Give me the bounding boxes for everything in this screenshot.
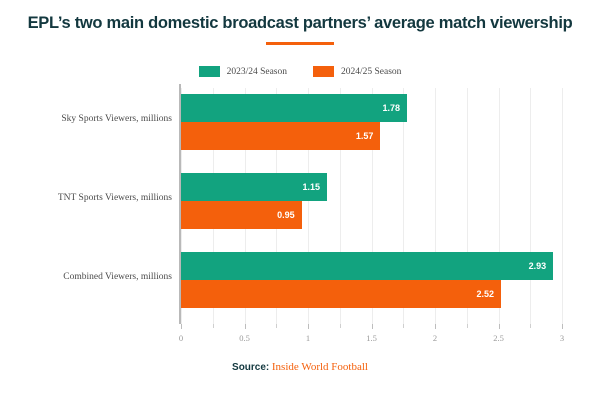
legend-label-season-2024-25: 2024/25 Season: [341, 67, 401, 77]
source-name[interactable]: Inside World Football: [272, 361, 368, 373]
bar-row: 2.52: [181, 280, 562, 308]
bar-row: 1.15: [181, 173, 562, 201]
bar-season-2023-24[interactable]: 1.78: [181, 94, 407, 122]
legend-swatch-orange: [313, 66, 334, 77]
bar-season-2023-24[interactable]: 1.15: [181, 173, 327, 201]
axis-tick: [276, 324, 277, 328]
legend-item-season-2024-25[interactable]: 2024/25 Season: [313, 66, 401, 77]
bar-value-label: 2.93: [529, 261, 547, 271]
bar-row: 1.78: [181, 94, 562, 122]
bar-group: 1.781.57: [181, 94, 562, 150]
axis-tick: [403, 324, 404, 328]
gridline: [562, 88, 563, 324]
bar-row: 0.95: [181, 201, 562, 229]
axis-tick: [499, 324, 500, 329]
source-line: Source: Inside World Football: [0, 361, 600, 373]
bar-season-2024-25[interactable]: 0.95: [181, 201, 302, 229]
legend-label-season-2023-24: 2023/24 Season: [227, 67, 287, 77]
axis-tick: [340, 324, 341, 328]
bar-group: 2.932.52: [181, 252, 562, 308]
axis-tick-label: 3: [560, 333, 564, 343]
bar-value-label: 1.78: [383, 103, 401, 113]
category-label-tnt-sports: TNT Sports Viewers, millions: [2, 193, 172, 203]
axis-tick: [562, 324, 563, 329]
bar-season-2023-24[interactable]: 2.93: [181, 252, 553, 280]
bar-group: 1.150.95: [181, 173, 562, 229]
axis-tick: [530, 324, 531, 328]
source-label: Source:: [232, 362, 269, 373]
axis-tick-label: 0: [179, 333, 183, 343]
bar-season-2024-25[interactable]: 2.52: [181, 280, 501, 308]
bar-value-label: 0.95: [277, 210, 295, 220]
bar-value-label: 2.52: [477, 289, 495, 299]
axis-tick: [372, 324, 373, 329]
axis-tick-label: 1.5: [366, 333, 377, 343]
bar-season-2024-25[interactable]: 1.57: [181, 122, 380, 150]
chart-page: EPL’s two main domestic broadcast partne…: [0, 0, 600, 400]
bar-value-label: 1.15: [303, 182, 321, 192]
bar-row: 1.57: [181, 122, 562, 150]
axis-tick-label: 1: [306, 333, 310, 343]
category-label-combined: Combined Viewers, millions: [2, 272, 172, 282]
category-label-sky-sports: Sky Sports Viewers, millions: [2, 114, 172, 124]
axis-tick: [467, 324, 468, 328]
plot-area: 1.781.571.150.952.932.52: [181, 88, 562, 324]
legend-item-season-2023-24[interactable]: 2023/24 Season: [199, 66, 287, 77]
category-axis-labels: Sky Sports Viewers, millions TNT Sports …: [0, 88, 172, 324]
axis-tick: [435, 324, 436, 329]
axis-tick: [245, 324, 246, 329]
axis-tick: [308, 324, 309, 329]
axis-tick-label: 0.5: [239, 333, 250, 343]
page-title: EPL’s two main domestic broadcast partne…: [0, 14, 600, 33]
axis-tick: [181, 324, 182, 329]
axis-tick-label: 2: [433, 333, 437, 343]
bar-row: 2.93: [181, 252, 562, 280]
chart-legend: 2023/24 Season 2024/25 Season: [0, 66, 600, 77]
title-underline-rule: [266, 42, 334, 45]
axis-tick-label: 2.5: [493, 333, 504, 343]
legend-swatch-green: [199, 66, 220, 77]
value-axis: 00.511.522.53: [181, 324, 562, 346]
axis-tick: [213, 324, 214, 328]
bar-value-label: 1.57: [356, 131, 374, 141]
